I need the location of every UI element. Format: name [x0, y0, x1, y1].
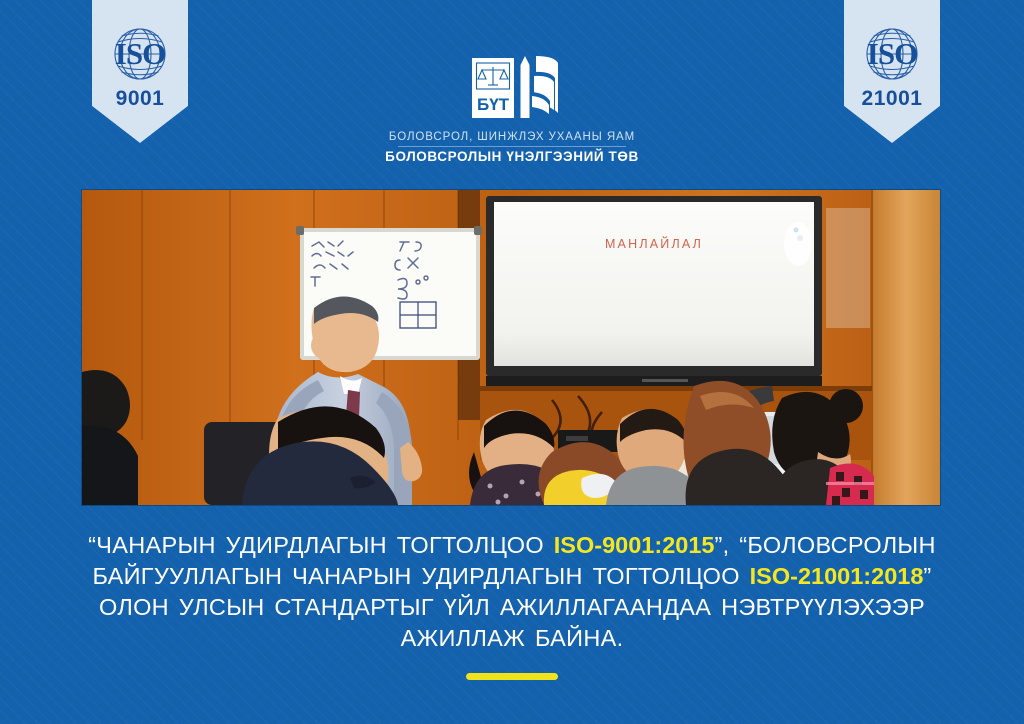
page-caption: “ЧАНАРЫН УДИРДЛАГЫН ТОГТОЛЦОО ISO-9001:2…	[72, 530, 952, 654]
caption-text-run: “ЧАНАРЫН УДИРДЛАГЫН ТОГТОЛЦОО	[88, 532, 554, 558]
training-session-photo: МАНЛАЙЛАЛ	[82, 190, 940, 505]
scales-pencil-book-emblem: БҮТ	[448, 48, 576, 126]
yellow-divider	[466, 673, 558, 680]
ministry-name: БОЛОВСРОЛ, ШИНЖЛЭХ УХААНЫ ЯАМ	[389, 131, 635, 143]
svg-text:МАНЛАЙЛАЛ: МАНЛАЙЛАЛ	[605, 236, 703, 251]
caption-standard-highlight: ISO-21001:2018	[750, 563, 924, 589]
organization-name: БОЛОВСРОЛЫН ҮНЭЛГЭЭНИЙ ТӨВ	[385, 149, 639, 164]
organization-logo: БҮТ БОЛОВСРОЛ, ШИНЖЛЭХ УХААНЫ ЯАМ БОЛОВС…	[0, 48, 1024, 164]
caption-standard-highlight: ISO-9001:2015	[554, 532, 715, 558]
logo-divider	[398, 146, 626, 147]
svg-text:БҮТ: БҮТ	[477, 95, 510, 114]
